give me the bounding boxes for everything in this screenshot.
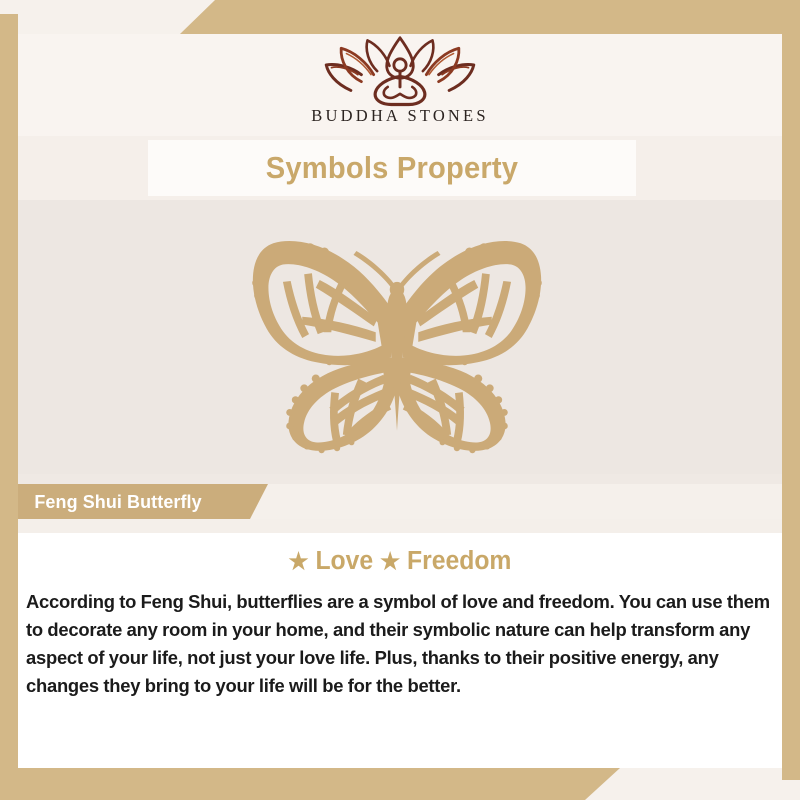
frame-bottom-band [0,768,620,800]
tab-feng-shui-butterfly[interactable]: Feng Shui Butterfly [18,484,268,519]
lotus-meditation-figure-icon [311,36,489,108]
keyword-freedom: Freedom [407,547,511,575]
frame-left-band [0,14,18,800]
spacer-below-tab [18,519,782,533]
frame-right-band [782,0,800,780]
star-icon-mid: ★ [380,548,400,574]
frame-top-band [180,0,800,34]
page-title: Symbols Property [163,140,622,196]
brand-header: BUDDHA STONES [18,34,782,136]
brand-logo-group: BUDDHA STONES [18,34,782,136]
star-icon-left: ★ [289,548,309,574]
keyword-love: Love [315,547,373,575]
illustration-stage [18,200,782,474]
brand-name: BUDDHA STONES [311,106,488,126]
description-section: ★ Love ★ Freedom According to Feng Shui,… [18,533,782,768]
title-banner: Symbols Property [148,140,636,196]
tab-label: Feng Shui Butterfly [21,491,202,513]
spacer-above-tab [18,474,782,484]
monarch-butterfly-icon [221,222,573,454]
description-paragraph: According to Feng Shui, butterflies are … [26,588,774,701]
keywords-subtitle: ★ Love ★ Freedom [29,533,770,576]
tab-row: Feng Shui Butterfly [18,484,782,519]
product-info-card: BUDDHA STONES Symbols Property [18,34,782,768]
title-banner-zone: Symbols Property [18,136,782,200]
